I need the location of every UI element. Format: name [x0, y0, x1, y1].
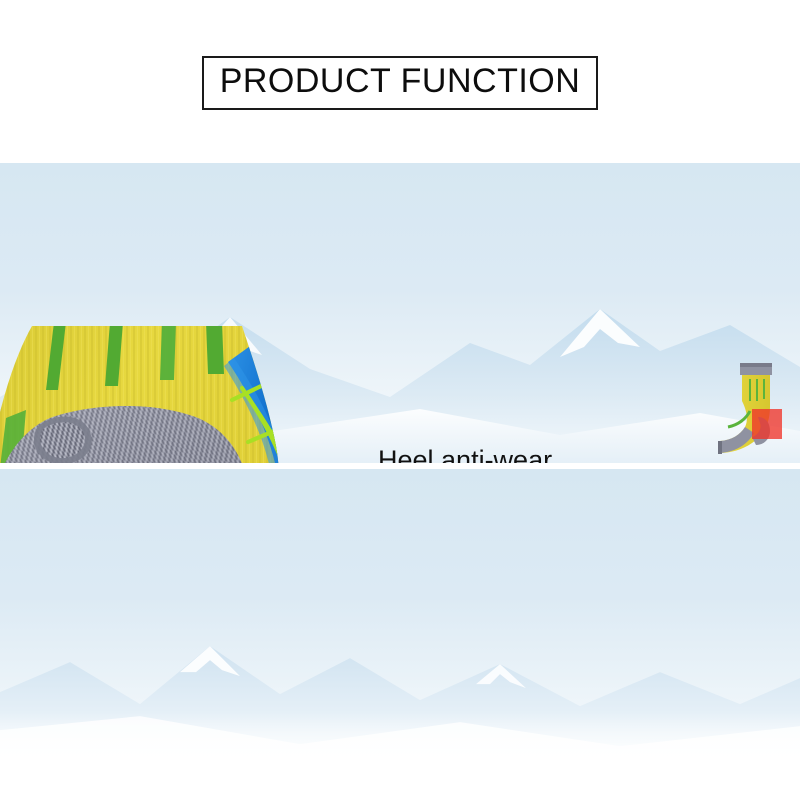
feature-panel-fight-blisters: Fight blisters According to the ergonomi… — [0, 469, 800, 772]
hero-image-heel — [0, 326, 352, 463]
page-title: PRODUCT FUNCTION — [220, 64, 581, 100]
feature-panel-heel-anti-wear: Heel anti-wear The anti-wear design at t… — [0, 163, 800, 463]
thumbnail-sock-heel — [712, 353, 792, 463]
page-header: PRODUCT FUNCTION — [0, 0, 800, 160]
title-box: PRODUCT FUNCTION — [202, 56, 599, 110]
bottom-fade — [0, 712, 800, 772]
